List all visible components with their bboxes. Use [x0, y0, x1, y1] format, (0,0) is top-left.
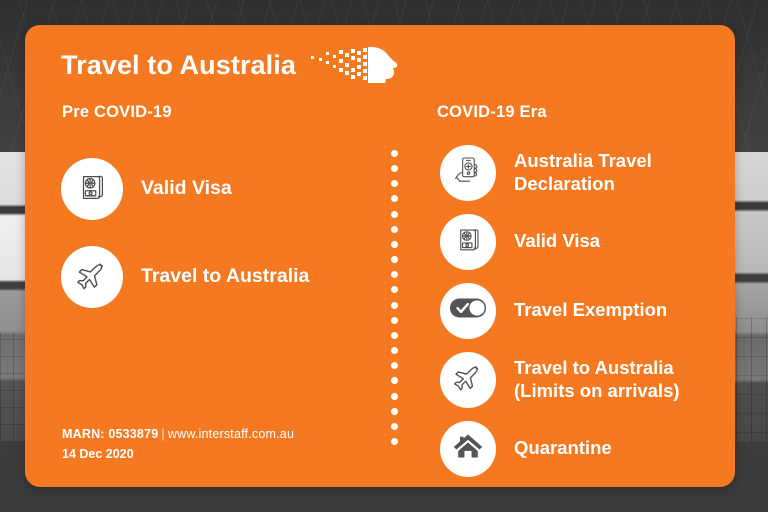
- icon-bubble: [440, 283, 496, 339]
- footer-line-1: MARN: 0533879|www.interstaff.com.au: [62, 427, 294, 441]
- house-icon: [452, 430, 484, 467]
- icon-bubble: [61, 246, 123, 308]
- list-item: Travel to Australia: [61, 233, 381, 321]
- list-item: Australia Travel Declaration: [440, 138, 740, 207]
- list-item: Quarantine: [440, 414, 740, 483]
- airplane-icon: [452, 361, 484, 398]
- dotted-divider: [390, 150, 398, 445]
- column-heading-covid-era: COVID-19 Era: [437, 103, 547, 122]
- pre-covid-list: Valid Visa Travel to Australia: [61, 145, 381, 321]
- list-item-label: Travel to Australia: [141, 265, 309, 289]
- hand-holding-phone-medical-icon: [452, 154, 484, 191]
- list-item-label: Travel to Australia (Limits on arrivals): [514, 357, 680, 402]
- website-link[interactable]: www.interstaff.com.au: [168, 427, 294, 441]
- footer-date: 14 Dec 2020: [62, 447, 294, 461]
- list-item-label: Australia Travel Declaration: [514, 150, 652, 195]
- passport-icon: [75, 170, 109, 209]
- list-item-label: Valid Visa: [514, 230, 600, 253]
- icon-bubble: [61, 158, 123, 220]
- title-row: Travel to Australia: [61, 43, 402, 88]
- marn-number: MARN: 0533879: [62, 427, 158, 441]
- list-item: Travel to Australia (Limits on arrivals): [440, 345, 740, 414]
- list-item-label: Quarantine: [514, 437, 612, 460]
- page-title: Travel to Australia: [61, 50, 296, 81]
- list-item: Valid Visa: [61, 145, 381, 233]
- column-heading-pre-covid: Pre COVID-19: [62, 103, 172, 122]
- icon-bubble: [440, 145, 496, 201]
- list-item: Valid Visa: [440, 207, 740, 276]
- infographic-card: Travel to Australia: [25, 25, 735, 487]
- toggle-check-icon: [449, 297, 487, 324]
- icon-bubble: [440, 421, 496, 477]
- list-item-label: Valid Visa: [141, 177, 232, 201]
- footer: MARN: 0533879|www.interstaff.com.au 14 D…: [62, 427, 294, 461]
- list-item-label: Travel Exemption: [514, 299, 667, 322]
- infographic-stage: Travel to Australia: [0, 0, 768, 512]
- icon-bubble: [440, 352, 496, 408]
- list-item: Travel Exemption: [440, 276, 740, 345]
- covid-era-list: Australia Travel Declaration: [440, 138, 740, 483]
- footer-separator: |: [158, 427, 167, 441]
- pixelated-head-profile-logo-icon: [306, 43, 402, 88]
- icon-bubble: [440, 214, 496, 270]
- passport-icon: [453, 224, 484, 260]
- airplane-icon: [75, 258, 109, 297]
